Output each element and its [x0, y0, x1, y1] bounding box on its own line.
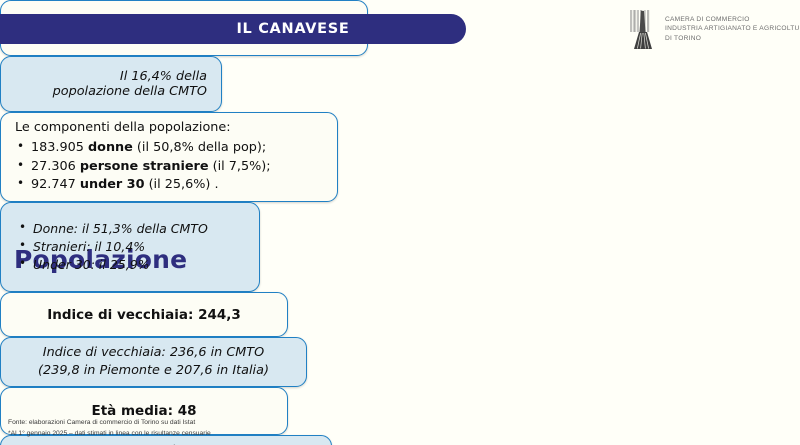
page-header: IL CANAVESE CAMERA DI COMMERCIO IN: [0, 0, 800, 60]
logo-line-2: INDUSTRIA ARTIGIANATO E AGRICOLTURA: [665, 24, 800, 33]
componenti-item-0-note: (il 50,8% della pop);: [133, 140, 266, 155]
logo-line-1: CAMERA DI COMMERCIO: [665, 15, 800, 24]
stat-card-componenti-popolazione: Le componenti della popolazione: 183.905…: [0, 112, 338, 202]
list-item: Under 30: il 25,9%: [17, 256, 243, 274]
componenti-item-1-value: 27.306: [31, 159, 80, 174]
stat-card-quota-popolazione-cmto: Il 16,4% della popolazione della CMTO: [0, 56, 222, 112]
footnote-asterisk-note: *Al 1° gennaio 2025 – dati stimati in li…: [8, 428, 211, 439]
page-title: IL CANAVESE: [116, 21, 349, 37]
quota-popolazione-line-2: popolazione della CMTO: [15, 84, 207, 99]
list-item: 27.306 persone straniere (il 7,5%);: [15, 158, 323, 177]
quota-popolazione-line-1: Il 16,4% della: [15, 69, 207, 84]
indice-vecchiaia-cmto-line-1: Indice di vecchiaia: 236,6 in CMTO: [13, 344, 294, 362]
componenti-list: 183.905 donne (il 50,8% della pop); 27.3…: [15, 139, 323, 195]
title-banner: IL CANAVESE: [0, 14, 466, 44]
list-item: Donne: il 51,3% della CMTO: [17, 220, 243, 238]
logo-line-3: DI TORINO: [665, 34, 800, 43]
footnote: Fonte: elaborazioni Camera di commercio …: [8, 417, 211, 439]
torch-emblem-icon: [628, 8, 658, 50]
list-item: Stranieri: il 10,4%: [17, 238, 243, 256]
componenti-lead: Le componenti della popolazione:: [15, 119, 323, 138]
chamber-of-commerce-logo: CAMERA DI COMMERCIO INDUSTRIA ARTIGIANAT…: [628, 8, 800, 50]
componenti-item-0-label: donne: [88, 140, 133, 155]
stat-card-indice-vecchiaia-cmto: Indice di vecchiaia: 236,6 in CMTO (239,…: [0, 337, 307, 387]
logo-text-block: CAMERA DI COMMERCIO INDUSTRIA ARTIGIANAT…: [665, 8, 800, 43]
componenti-item-2-label: under 30: [80, 177, 145, 192]
componenti-item-0-value: 183.905: [31, 140, 88, 155]
quote-cmto-list: Donne: il 51,3% della CMTO Stranieri: il…: [17, 220, 243, 275]
componenti-item-2-value: 92.747: [31, 177, 80, 192]
stat-card-indice-vecchiaia: Indice di vecchiaia: 244,3: [0, 292, 288, 337]
stat-card-quote-cmto: Donne: il 51,3% della CMTO Stranieri: il…: [0, 202, 260, 292]
list-item: 183.905 donne (il 50,8% della pop);: [15, 139, 323, 158]
componenti-item-2-note: (il 25,6%) .: [145, 177, 219, 192]
componenti-item-1-label: persone straniere: [80, 159, 209, 174]
list-item: 92.747 under 30 (il 25,6%) .: [15, 176, 323, 195]
componenti-item-1-note: (il 7,5%);: [209, 159, 271, 174]
indice-vecchiaia-text: Indice di vecchiaia: 244,3: [13, 307, 275, 323]
footnote-source: Fonte: elaborazioni Camera di commercio …: [8, 417, 211, 428]
indice-vecchiaia-cmto-line-2: (239,8 in Piemonte e 207,6 in Italia): [13, 362, 294, 380]
